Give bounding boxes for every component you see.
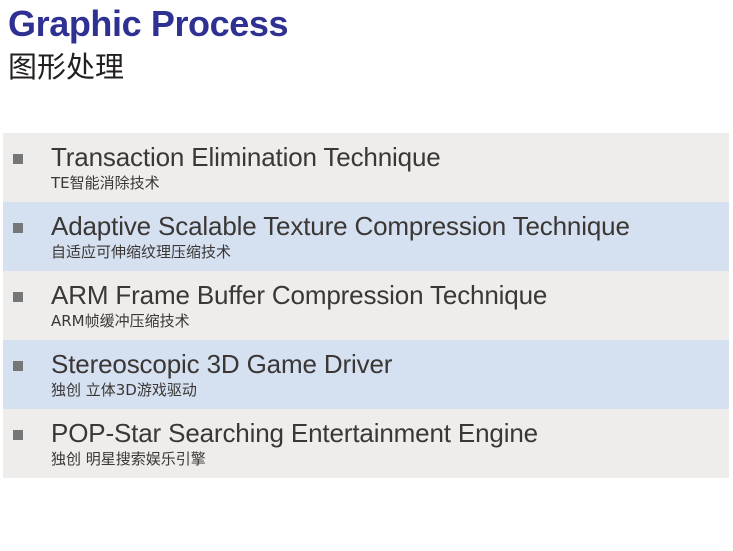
list-item[interactable]: ARM Frame Buffer Compression Technique A… xyxy=(3,271,729,340)
slide-header: Graphic Process 图形处理 xyxy=(8,2,725,86)
list-item-subtitle: ARM帧缓冲压缩技术 xyxy=(51,310,723,332)
square-bullet-icon xyxy=(3,280,33,302)
list-item-subtitle: 独创 明星搜索娱乐引擎 xyxy=(51,448,723,470)
square-bullet-icon xyxy=(3,211,33,233)
list-item[interactable]: Stereoscopic 3D Game Driver 独创 立体3D游戏驱动 xyxy=(3,340,729,409)
square-bullet-icon xyxy=(3,418,33,440)
list-item-subtitle: TE智能消除技术 xyxy=(51,172,723,194)
page-title: Graphic Process xyxy=(8,2,725,46)
list-item[interactable]: POP-Star Searching Entertainment Engine … xyxy=(3,409,729,478)
list-item-title: POP-Star Searching Entertainment Engine xyxy=(51,418,723,448)
list-item-title: Stereoscopic 3D Game Driver xyxy=(51,349,723,379)
list-item-subtitle: 独创 立体3D游戏驱动 xyxy=(51,379,723,401)
square-bullet-icon xyxy=(3,349,33,371)
list-item[interactable]: Transaction Elimination Technique TE智能消除… xyxy=(3,133,729,202)
list-item-title: ARM Frame Buffer Compression Technique xyxy=(51,280,723,310)
feature-list: Transaction Elimination Technique TE智能消除… xyxy=(3,133,729,478)
list-item-title: Transaction Elimination Technique xyxy=(51,142,723,172)
list-item-title: Adaptive Scalable Texture Compression Te… xyxy=(51,211,723,241)
page-subtitle: 图形处理 xyxy=(8,46,725,86)
list-item[interactable]: Adaptive Scalable Texture Compression Te… xyxy=(3,202,729,271)
list-item-subtitle: 自适应可伸缩纹理压缩技术 xyxy=(51,241,723,263)
square-bullet-icon xyxy=(3,142,33,164)
